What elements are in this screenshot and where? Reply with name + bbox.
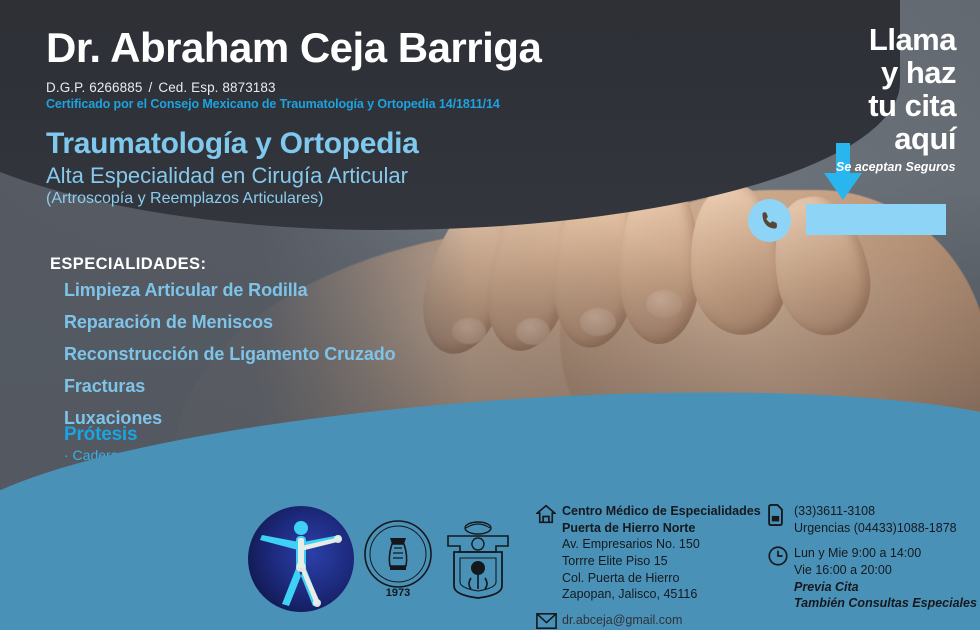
page-title: Dr. Abraham Ceja Barriga — [46, 26, 746, 70]
medical-flyer: Dr. Abraham Ceja Barriga D.G.P. 6266885/… — [0, 0, 980, 630]
header-text-block: Dr. Abraham Ceja Barriga D.G.P. 6266885/… — [46, 26, 746, 208]
universidad-de-guadalajara-seal — [440, 518, 516, 600]
contact-phone-hours-block: (33)3611-3108 Urgencias (04433)1088-1878… — [768, 503, 978, 621]
mobile-phone-icon — [768, 503, 794, 531]
cta-line-1: Llama — [776, 24, 956, 55]
license-line: D.G.P. 6266885/Ced. Esp. 8873183 — [46, 80, 746, 95]
address-line1: Av. Empresarios No. 150 — [562, 537, 700, 551]
phone-text: (33)3611-3108 Urgencias (04433)1088-1878 — [794, 503, 957, 536]
emergency-number[interactable]: Urgencias (04433)1088-1878 — [794, 521, 957, 535]
phone-row[interactable]: (33)3611-3108 Urgencias (04433)1088-1878 — [768, 503, 978, 536]
cta-line-2: y haz — [776, 57, 956, 88]
hours-line1: Lun y Mie 9:00 a 14:00 — [794, 546, 921, 560]
address-row: Centro Médico de Especialidades Puerta d… — [536, 503, 776, 603]
license-dgp: D.G.P. 6266885 — [46, 80, 142, 95]
clinic-name-line1: Centro Médico de Especialidades — [562, 504, 761, 518]
hours-line2: Vie 16:00 a 20:00 — [794, 563, 892, 577]
list-item: Fracturas — [64, 377, 464, 395]
envelope-icon — [536, 612, 562, 630]
phone-number-bar[interactable] — [806, 204, 946, 235]
home-icon — [536, 503, 562, 529]
specialty-sub: Alta Especialidad en Cirugía Articular — [46, 163, 746, 189]
anatomy-logo — [248, 506, 354, 612]
clinic-name-line2: Puerta de Hierro Norte — [562, 521, 695, 535]
email-row[interactable]: dr.abceja@gmail.com — [536, 612, 776, 630]
clock-icon — [768, 545, 794, 571]
license-separator: / — [142, 80, 158, 95]
consejo-mexicano-ortopedia-seal: 1973 — [360, 518, 436, 600]
seal-year: 1973 — [386, 587, 410, 599]
list-item: Limpieza Articular de Rodilla — [64, 281, 464, 299]
hours-text: Lun y Mie 9:00 a 14:00 Vie 16:00 a 20:00… — [794, 545, 977, 612]
phone-icon — [759, 210, 781, 232]
phone-icon-button[interactable] — [748, 199, 791, 242]
specialty-main: Traumatología y Ortopedia — [46, 127, 746, 161]
note-line2: También Consultas Especiales — [794, 596, 977, 610]
cta-line-4: aquí — [776, 123, 956, 154]
specialties-title: ESPECIALIDADES: — [50, 255, 206, 274]
license-ced: Ced. Esp. 8873183 — [158, 80, 275, 95]
call-to-action: Llama y haz tu cita aquí — [776, 24, 956, 156]
hours-row: Lun y Mie 9:00 a 14:00 Vie 16:00 a 20:00… — [768, 545, 978, 612]
note-line1: Previa Cita — [794, 580, 859, 594]
address-line4: Zapopan, Jalisco, 45116 — [562, 587, 697, 601]
insurance-note: Se aceptan Seguros — [836, 160, 956, 174]
list-item: Reparación de Meniscos — [64, 313, 464, 331]
specialty-note: (Artroscopía y Reemplazos Articulares) — [46, 190, 746, 208]
certification-line: Certificado por el Consejo Mexicano de T… — [46, 97, 746, 111]
address-line3: Col. Puerta de Hierro — [562, 571, 679, 585]
list-item: Reconstrucción de Ligamento Cruzado — [64, 345, 464, 363]
email-text[interactable]: dr.abceja@gmail.com — [562, 612, 682, 629]
cta-line-3: tu cita — [776, 90, 956, 121]
contact-address-block: Centro Médico de Especialidades Puerta d… — [536, 503, 776, 630]
address-line2: Torrre Elite Piso 15 — [562, 554, 668, 568]
phone-number[interactable]: (33)3611-3108 — [794, 504, 875, 518]
address-text: Centro Médico de Especialidades Puerta d… — [562, 503, 761, 603]
